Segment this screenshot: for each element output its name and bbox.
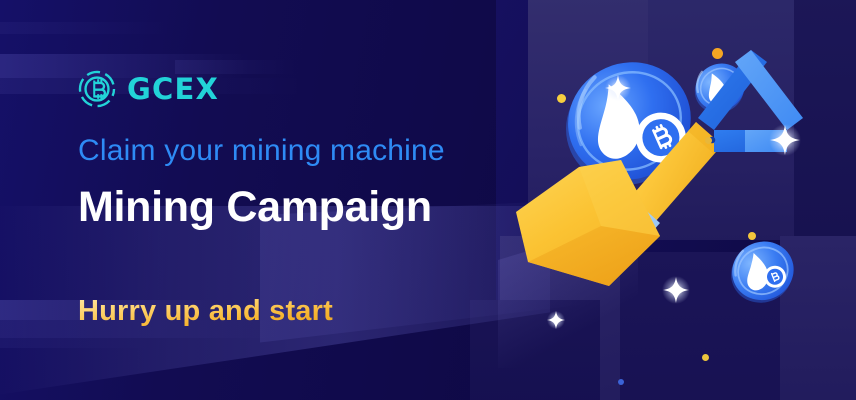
mining-illustration — [490, 0, 856, 400]
banner-headline: Mining Campaign — [78, 183, 432, 232]
dot-gold-right — [748, 232, 756, 240]
bitcoin-coin-icon — [78, 70, 116, 108]
brand-wordmark: GCEX — [127, 72, 219, 106]
banner-content: GCEX Claim your mining machine Mining Ca… — [78, 0, 518, 400]
dot-orange-large — [712, 48, 723, 59]
banner-tagline: Claim your mining machine — [78, 134, 445, 168]
sparkle-icon — [605, 75, 631, 101]
banner-cta-text: Hurry up and start — [78, 295, 333, 328]
sparkle-icon — [769, 124, 801, 156]
dot-gold-low — [702, 354, 709, 361]
small-coin-bottom — [721, 232, 803, 312]
sparkle-icon — [547, 311, 565, 329]
sparkle-icon — [662, 276, 690, 304]
dot-yellow-left — [557, 94, 566, 103]
dot-blue-low — [618, 379, 624, 385]
promo-banner: GCEX Claim your mining machine Mining Ca… — [0, 0, 856, 400]
brand-logo[interactable]: GCEX — [78, 70, 219, 108]
dot-yellow-small — [705, 137, 712, 144]
